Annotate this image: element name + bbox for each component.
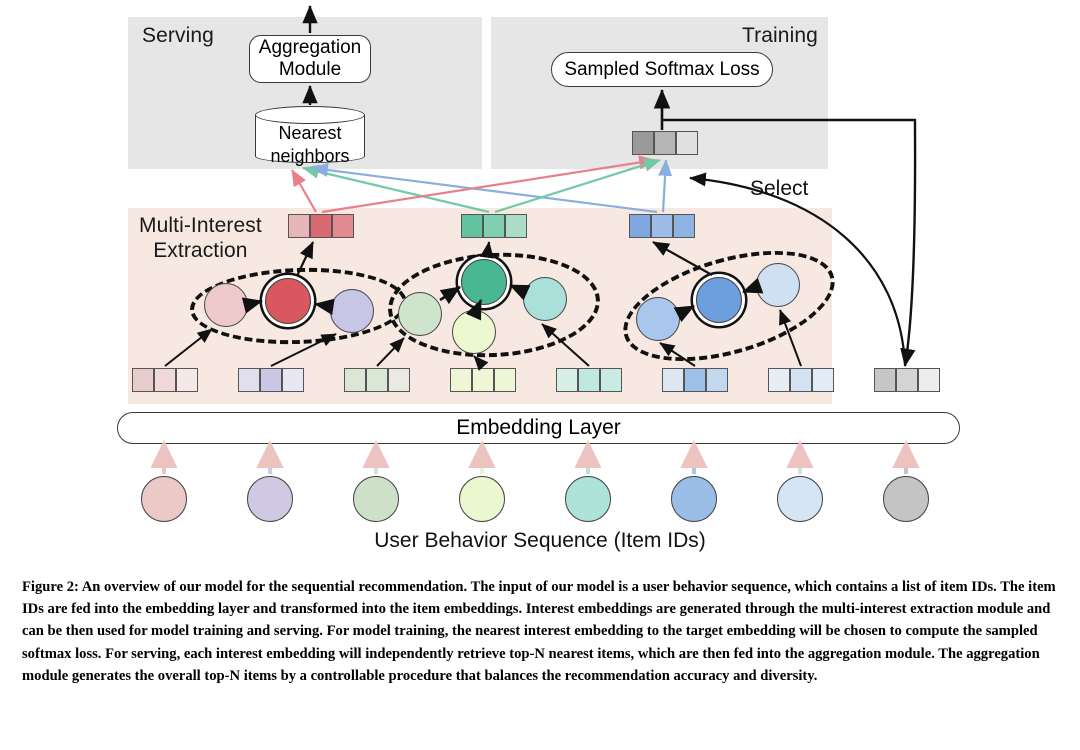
interest-vector-red-cell-2 <box>310 214 332 238</box>
interest-node-blue-center[interactable] <box>696 277 742 323</box>
item-embedding-5-cell-3 <box>600 368 622 392</box>
item-embedding-6-cell-3 <box>706 368 728 392</box>
item-embedding-6-cell-2 <box>684 368 706 392</box>
target-item-vector[interactable] <box>632 131 698 155</box>
item-embedding-2-cell-2 <box>260 368 282 392</box>
interest-vector-red-cell-1 <box>288 214 310 238</box>
item-embedding-4-cell-2 <box>472 368 494 392</box>
item-embedding-7[interactable] <box>768 368 834 392</box>
item-embedding-4-cell-3 <box>494 368 516 392</box>
item-embedding-5-cell-1 <box>556 368 578 392</box>
item-id-6[interactable] <box>671 476 717 522</box>
item-embedding-6-cell-1 <box>662 368 684 392</box>
interest-node-green-right[interactable] <box>523 277 567 321</box>
item-embedding-8[interactable] <box>874 368 940 392</box>
embedding-layer-bar[interactable]: Embedding Layer <box>117 412 960 444</box>
embedding-layer-to-item-arrows <box>164 448 906 474</box>
panel-serving-label: Serving <box>142 24 214 49</box>
item-embedding-4[interactable] <box>450 368 516 392</box>
figure-2-model-overview: Serving Training Multi-Interest Extracti… <box>0 0 1080 750</box>
item-embedding-5[interactable] <box>556 368 622 392</box>
target-vector-cell-1 <box>632 131 654 155</box>
interest-node-red-left[interactable] <box>204 283 248 327</box>
interest-vector-green[interactable] <box>461 214 527 238</box>
item-id-3[interactable] <box>353 476 399 522</box>
nearest-neighbors-label: Nearest neighbors <box>255 122 365 167</box>
panel-training-label: Training <box>742 24 818 49</box>
interest-node-blue-left[interactable] <box>636 297 680 341</box>
target-vector-cell-3 <box>676 131 698 155</box>
interest-vector-blue[interactable] <box>629 214 695 238</box>
item-id-5[interactable] <box>565 476 611 522</box>
item-embedding-1-cell-1 <box>132 368 154 392</box>
interest-vector-blue-cell-3 <box>673 214 695 238</box>
item-embedding-8-cell-1 <box>874 368 896 392</box>
item-embedding-8-cell-2 <box>896 368 918 392</box>
interest-node-green-bottom[interactable] <box>452 310 496 354</box>
interest-vector-green-cell-3 <box>505 214 527 238</box>
item-embedding-7-cell-2 <box>790 368 812 392</box>
interest-vector-red-cell-3 <box>332 214 354 238</box>
interest-node-blue-right[interactable] <box>756 263 800 307</box>
item-embedding-7-cell-3 <box>812 368 834 392</box>
item-embedding-7-cell-1 <box>768 368 790 392</box>
item-embedding-5-cell-2 <box>578 368 600 392</box>
item-embedding-4-cell-1 <box>450 368 472 392</box>
item-id-4[interactable] <box>459 476 505 522</box>
sampled-softmax-loss-box[interactable]: Sampled Softmax Loss <box>551 52 773 87</box>
select-label: Select <box>750 177 808 201</box>
interest-node-green-left[interactable] <box>398 292 442 336</box>
item-embedding-2-cell-1 <box>238 368 260 392</box>
item-embedding-2-cell-3 <box>282 368 304 392</box>
item-embedding-3-cell-1 <box>344 368 366 392</box>
figure-caption: Figure 2: An overview of our model for t… <box>22 576 1064 687</box>
interest-vector-blue-cell-1 <box>629 214 651 238</box>
item-id-2[interactable] <box>247 476 293 522</box>
item-embedding-1-cell-2 <box>154 368 176 392</box>
interest-node-red-right[interactable] <box>330 289 374 333</box>
interest-vector-blue-cell-2 <box>651 214 673 238</box>
item-embedding-6[interactable] <box>662 368 728 392</box>
interest-vector-green-cell-2 <box>483 214 505 238</box>
interest-node-red-center[interactable] <box>265 278 311 324</box>
item-embedding-1[interactable] <box>132 368 198 392</box>
interest-to-nearest-neighbors-arrows <box>292 168 657 212</box>
target-vector-cell-2 <box>654 131 676 155</box>
aggregation-module-box[interactable]: Aggregation Module <box>249 35 371 83</box>
item-embedding-3-cell-3 <box>388 368 410 392</box>
user-behavior-sequence-label: User Behavior Sequence (Item IDs) <box>0 529 1080 553</box>
item-embedding-8-cell-3 <box>918 368 940 392</box>
item-id-7[interactable] <box>777 476 823 522</box>
item-id-1[interactable] <box>141 476 187 522</box>
interest-vector-red[interactable] <box>288 214 354 238</box>
interest-vector-green-cell-1 <box>461 214 483 238</box>
panel-extraction-label: Multi-Interest Extraction <box>139 214 262 264</box>
item-embedding-1-cell-3 <box>176 368 198 392</box>
nearest-neighbors-cylinder[interactable]: Nearest neighbors <box>255 106 365 163</box>
item-id-8[interactable] <box>883 476 929 522</box>
item-embedding-3[interactable] <box>344 368 410 392</box>
item-embedding-2[interactable] <box>238 368 304 392</box>
interest-node-green-center[interactable] <box>461 259 507 305</box>
item-embedding-3-cell-2 <box>366 368 388 392</box>
